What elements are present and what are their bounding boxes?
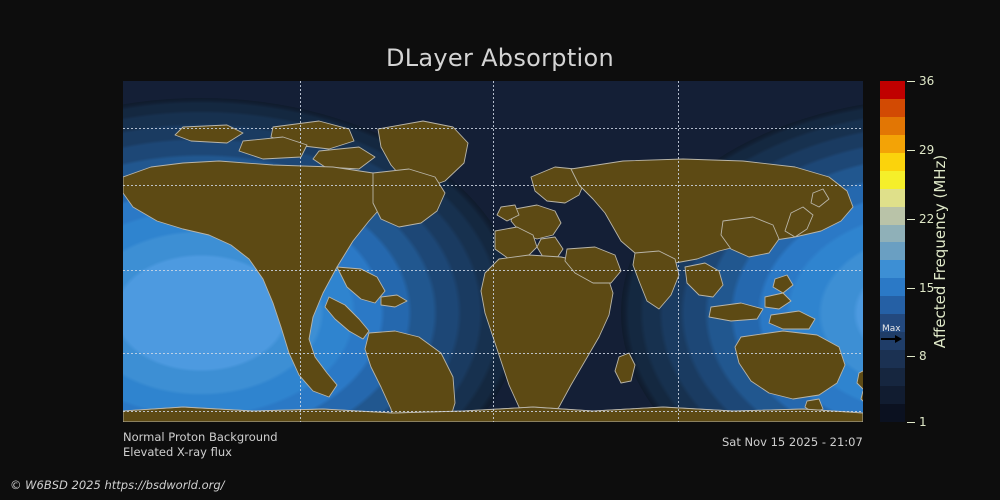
tick-dash-icon — [907, 81, 915, 82]
xray-status-note: Elevated X-ray flux — [123, 445, 232, 459]
tick-dash-icon — [907, 219, 915, 220]
world-map[interactable] — [123, 81, 863, 422]
colorbar-band — [880, 189, 905, 207]
colorbar-band — [880, 260, 905, 278]
colorbar-band — [880, 81, 905, 99]
colorbar-band — [880, 135, 905, 153]
tick-dash-icon — [907, 356, 915, 357]
proton-status-note: Normal Proton Background — [123, 430, 278, 444]
footer-credit: © W6BSD 2025 https://bsdworld.org/ — [10, 478, 225, 492]
map-canvas — [123, 81, 863, 422]
colorbar-band — [880, 153, 905, 171]
timestamp: Sat Nov 15 2025 - 21:07 — [722, 435, 863, 449]
colorbar-band — [880, 225, 905, 243]
colorbar-band — [880, 117, 905, 135]
colorbar-band — [880, 368, 905, 386]
colorbar-tick-label: 1 — [919, 415, 927, 429]
colorbar-band — [880, 99, 905, 117]
colorbar[interactable]: Max — [880, 81, 905, 422]
tick-dash-icon — [907, 288, 915, 289]
page-title: DLayer Absorption — [0, 44, 1000, 72]
colorbar-band — [880, 386, 905, 404]
colorbar-max-label: Max — [881, 324, 901, 334]
colorbar-band — [880, 171, 905, 189]
colorbar-band — [880, 404, 905, 422]
colorbar-max-marker: Max — [881, 324, 904, 350]
tick-dash-icon — [907, 422, 915, 423]
colorbar-axis-label: Affected Frequency (MHz) — [928, 81, 952, 422]
colorbar-band — [880, 278, 905, 296]
tick-dash-icon — [907, 150, 915, 151]
colorbar-max-arrow-icon — [881, 334, 903, 344]
colorbar-band — [880, 207, 905, 225]
colorbar-tick-label: 8 — [919, 349, 927, 363]
colorbar-band — [880, 350, 905, 368]
dlayer-absorption-page: DLayer Absorption — [0, 0, 1000, 500]
colorbar-band — [880, 296, 905, 314]
colorbar-band — [880, 242, 905, 260]
